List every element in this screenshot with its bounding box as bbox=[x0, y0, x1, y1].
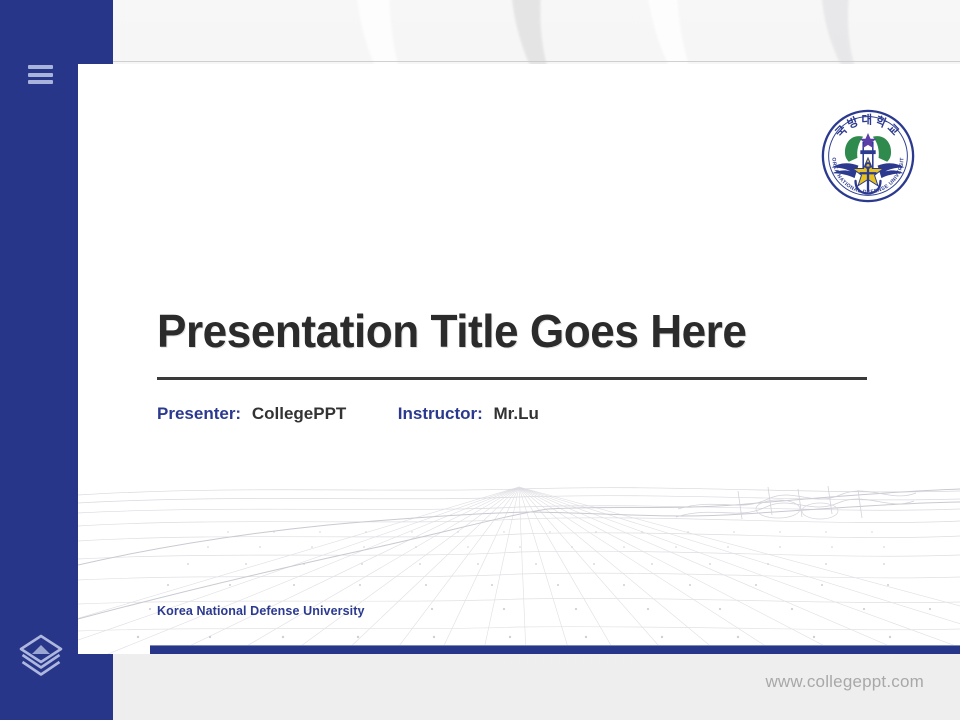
title-underline bbox=[157, 377, 867, 380]
hamburger-menu-icon[interactable] bbox=[28, 65, 53, 84]
page-title: Presentation Title Goes Here bbox=[157, 307, 848, 357]
credits-line: Presenter: CollegePPT Instructor: Mr.Lu bbox=[157, 404, 539, 424]
header-divider bbox=[0, 61, 960, 62]
presenter-value: CollegePPT bbox=[252, 404, 346, 423]
hamburger-bar bbox=[28, 65, 53, 69]
instructor-label: Instructor: bbox=[398, 404, 483, 423]
slide-canvas: 국방대학교 KOREA NATIONAL DEFENSE UNIVERSITY bbox=[78, 64, 960, 654]
instructor-value: Mr.Lu bbox=[494, 404, 539, 423]
korea-national-defense-university-emblem: 국방대학교 KOREA NATIONAL DEFENSE UNIVERSITY bbox=[820, 108, 916, 204]
presentation-viewer: 국방대학교 KOREA NATIONAL DEFENSE UNIVERSITY bbox=[0, 0, 960, 720]
layers-stack-icon[interactable] bbox=[16, 632, 66, 678]
hamburger-bar bbox=[28, 80, 53, 84]
slide-bottom-bar bbox=[150, 645, 960, 654]
presenter-label: Presenter: bbox=[157, 404, 241, 423]
wireframe-mesh-graphic bbox=[78, 469, 960, 654]
hamburger-bar bbox=[28, 73, 53, 77]
site-watermark: www.collegeppt.com bbox=[765, 672, 924, 692]
university-name: Korea National Defense University bbox=[157, 604, 365, 618]
